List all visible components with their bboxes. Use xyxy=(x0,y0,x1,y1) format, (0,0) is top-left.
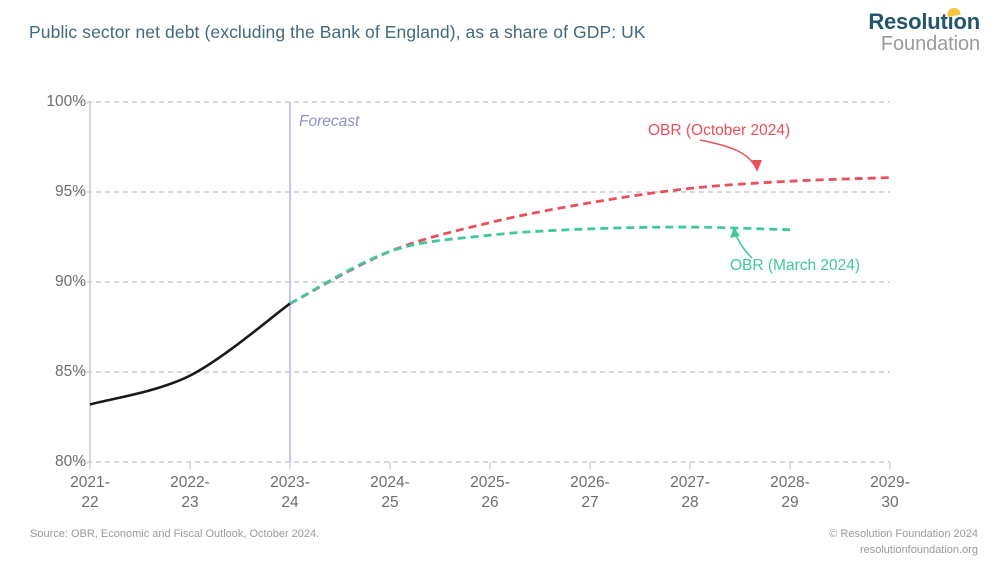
x-axis-tick-label: 2022-23 xyxy=(170,473,210,513)
x-axis-tick-label: 2028-29 xyxy=(770,473,810,513)
x-axis-tick-label: 2026-27 xyxy=(570,473,610,513)
y-axis-tick-label: 90% xyxy=(55,273,86,291)
x-axis-tick-label-line: 27 xyxy=(570,493,610,513)
x-axis-tick-label-line: 2024- xyxy=(370,473,410,493)
x-axis-tick-label-line: 2023- xyxy=(270,473,310,493)
x-axis-tick-label-line: 2028- xyxy=(770,473,810,493)
x-axis-tick-label: 2024-25 xyxy=(370,473,410,513)
x-axis-tick-label-line: 23 xyxy=(170,493,210,513)
x-axis-tick-label-line: 22 xyxy=(70,493,110,513)
x-axis-tick-label-line: 25 xyxy=(370,493,410,513)
x-axis-tick-label: 2021-22 xyxy=(70,473,110,513)
series-line-outturn xyxy=(90,304,290,405)
x-axis-tick-label: 2027-28 xyxy=(670,473,710,513)
forecast-label: Forecast xyxy=(299,113,359,131)
source-note: Source: OBR, Economic and Fiscal Outlook… xyxy=(30,528,319,540)
chart-page: Public sector net debt (excluding the Ba… xyxy=(0,0,1000,563)
series-label-october-2024: OBR (October 2024) xyxy=(648,122,790,140)
x-axis-tick-label-line: 2026- xyxy=(570,473,610,493)
series-line-obr-october-2024 xyxy=(290,178,890,304)
copyright-block: © Resolution Foundation 2024 resolutionf… xyxy=(829,527,978,559)
x-axis-tick-label: 2025-26 xyxy=(470,473,510,513)
website-line: resolutionfoundation.org xyxy=(829,543,978,559)
x-axis-tick-label-line: 30 xyxy=(870,493,910,513)
chart-plot-area: 80%85%90%95%100%2021-222022-232023-24202… xyxy=(0,0,1000,563)
x-axis-tick-label-line: 29 xyxy=(770,493,810,513)
series-line-obr-march-2024 xyxy=(290,227,790,304)
x-axis-tick-label-line: 2025- xyxy=(470,473,510,493)
x-axis-tick-label: 2029-30 xyxy=(870,473,910,513)
annotation-arrowhead-october xyxy=(752,160,762,172)
y-axis-tick-label: 80% xyxy=(55,453,86,471)
x-axis-tick-label-line: 2029- xyxy=(870,473,910,493)
y-axis-tick-label: 95% xyxy=(55,183,86,201)
copyright-line: © Resolution Foundation 2024 xyxy=(829,527,978,543)
x-axis-tick-label-line: 2022- xyxy=(170,473,210,493)
x-axis-tick-label: 2023-24 xyxy=(270,473,310,513)
annotation-arrow-october xyxy=(700,140,756,168)
x-axis-tick-label-line: 28 xyxy=(670,493,710,513)
y-axis-tick-label: 85% xyxy=(55,363,86,381)
x-axis-tick-label-line: 24 xyxy=(270,493,310,513)
y-axis-tick-label: 100% xyxy=(46,93,86,111)
x-axis-tick-label-line: 26 xyxy=(470,493,510,513)
x-axis-tick-label-line: 2027- xyxy=(670,473,710,493)
x-axis-tick-label-line: 2021- xyxy=(70,473,110,493)
series-label-march-2024: OBR (March 2024) xyxy=(730,257,860,275)
